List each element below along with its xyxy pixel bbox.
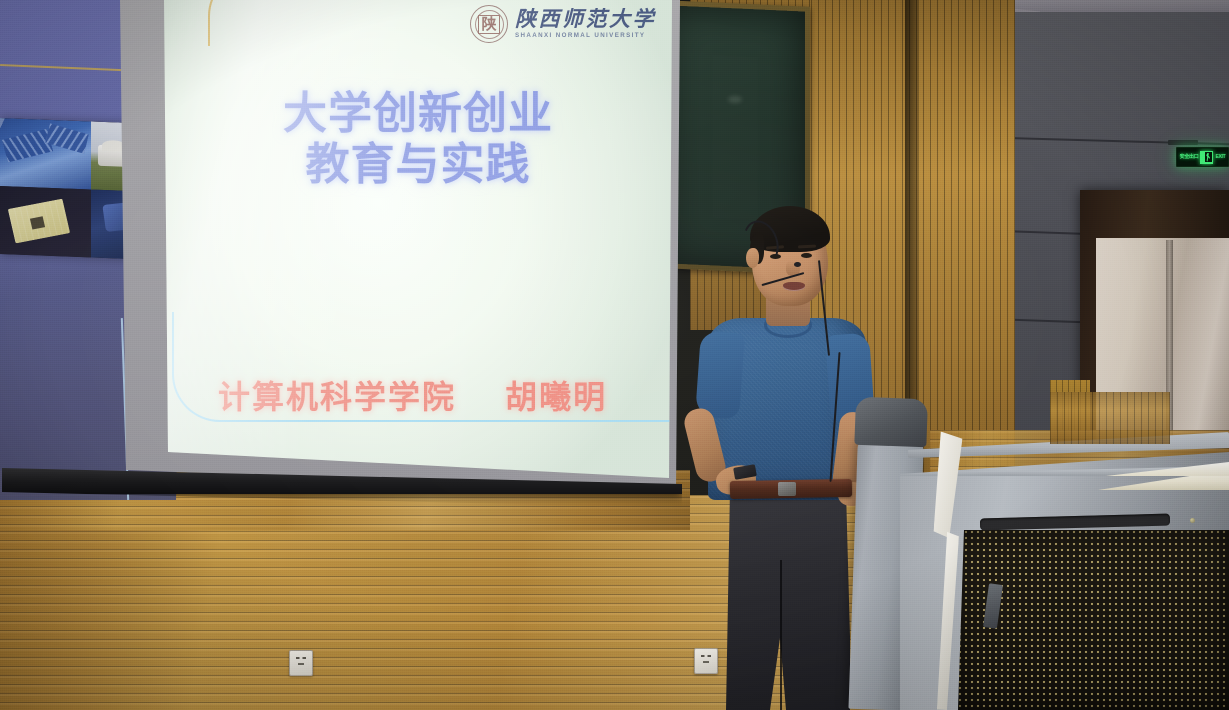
headset-mic-capsule xyxy=(794,262,801,267)
presenter-leg-seam xyxy=(780,560,782,710)
projection-screen-assembly: 陕 陕西师范大学 SHAANXI NORMAL UNIVERSITY 大学创新创… xyxy=(120,0,680,530)
presenter-eye-right xyxy=(801,253,812,258)
slide-decor-gold-curve xyxy=(208,0,328,46)
running-man-icon xyxy=(1200,151,1213,164)
university-name-cn: 陕西师范大学 xyxy=(515,9,656,30)
podium-perforated-panel xyxy=(958,530,1229,710)
presenter-belt-buckle xyxy=(778,482,796,496)
wall-power-outlet-left[interactable] xyxy=(289,650,313,676)
presenter-mouth xyxy=(783,282,805,291)
presenter-trousers xyxy=(726,488,850,710)
slide-title: 大学创新创业 教育与实践 xyxy=(164,88,672,190)
podium-screw xyxy=(1190,518,1195,523)
slide-title-line-1: 大学创新创业 xyxy=(164,88,672,139)
exit-sign-mount xyxy=(1168,140,1198,145)
lecture-hall-scene: 安全出口 EXIT xyxy=(0,0,1229,710)
slide-title-line-2: 教育与实践 xyxy=(164,139,672,190)
university-name-en: SHAANXI NORMAL UNIVERSITY xyxy=(515,33,656,39)
thumbnail-circuit-board xyxy=(0,186,91,257)
seal-character: 陕 xyxy=(478,15,499,34)
presentation-slide: 陕 陕西师范大学 SHAANXI NORMAL UNIVERSITY 大学创新创… xyxy=(164,0,672,480)
wood-slat-above-podium xyxy=(1050,392,1170,444)
chalk-smudge xyxy=(728,96,742,103)
emergency-exit-sign: 安全出口 EXIT xyxy=(1176,147,1229,167)
presenter-sleeve-left xyxy=(695,331,745,420)
slide-footer-credit: 计算机科学学院 胡曦明 xyxy=(218,372,607,418)
university-wordmark: 陕西师范大学 SHAANXI NORMAL UNIVERSITY xyxy=(515,9,656,39)
university-logo: 陕 陕西师范大学 SHAANXI NORMAL UNIVERSITY xyxy=(470,5,656,43)
thumbnail-satellite xyxy=(0,118,91,189)
slide-footer-presenter: 胡曦明 xyxy=(505,378,607,416)
exit-sign-chinese-label: 安全出口 xyxy=(1180,155,1199,160)
exit-sign-english-label: EXIT xyxy=(1215,155,1225,160)
slide-footer-department: 计算机科学学院 xyxy=(218,378,456,416)
university-seal-icon: 陕 xyxy=(470,5,508,43)
podium-post-cap xyxy=(854,397,928,447)
